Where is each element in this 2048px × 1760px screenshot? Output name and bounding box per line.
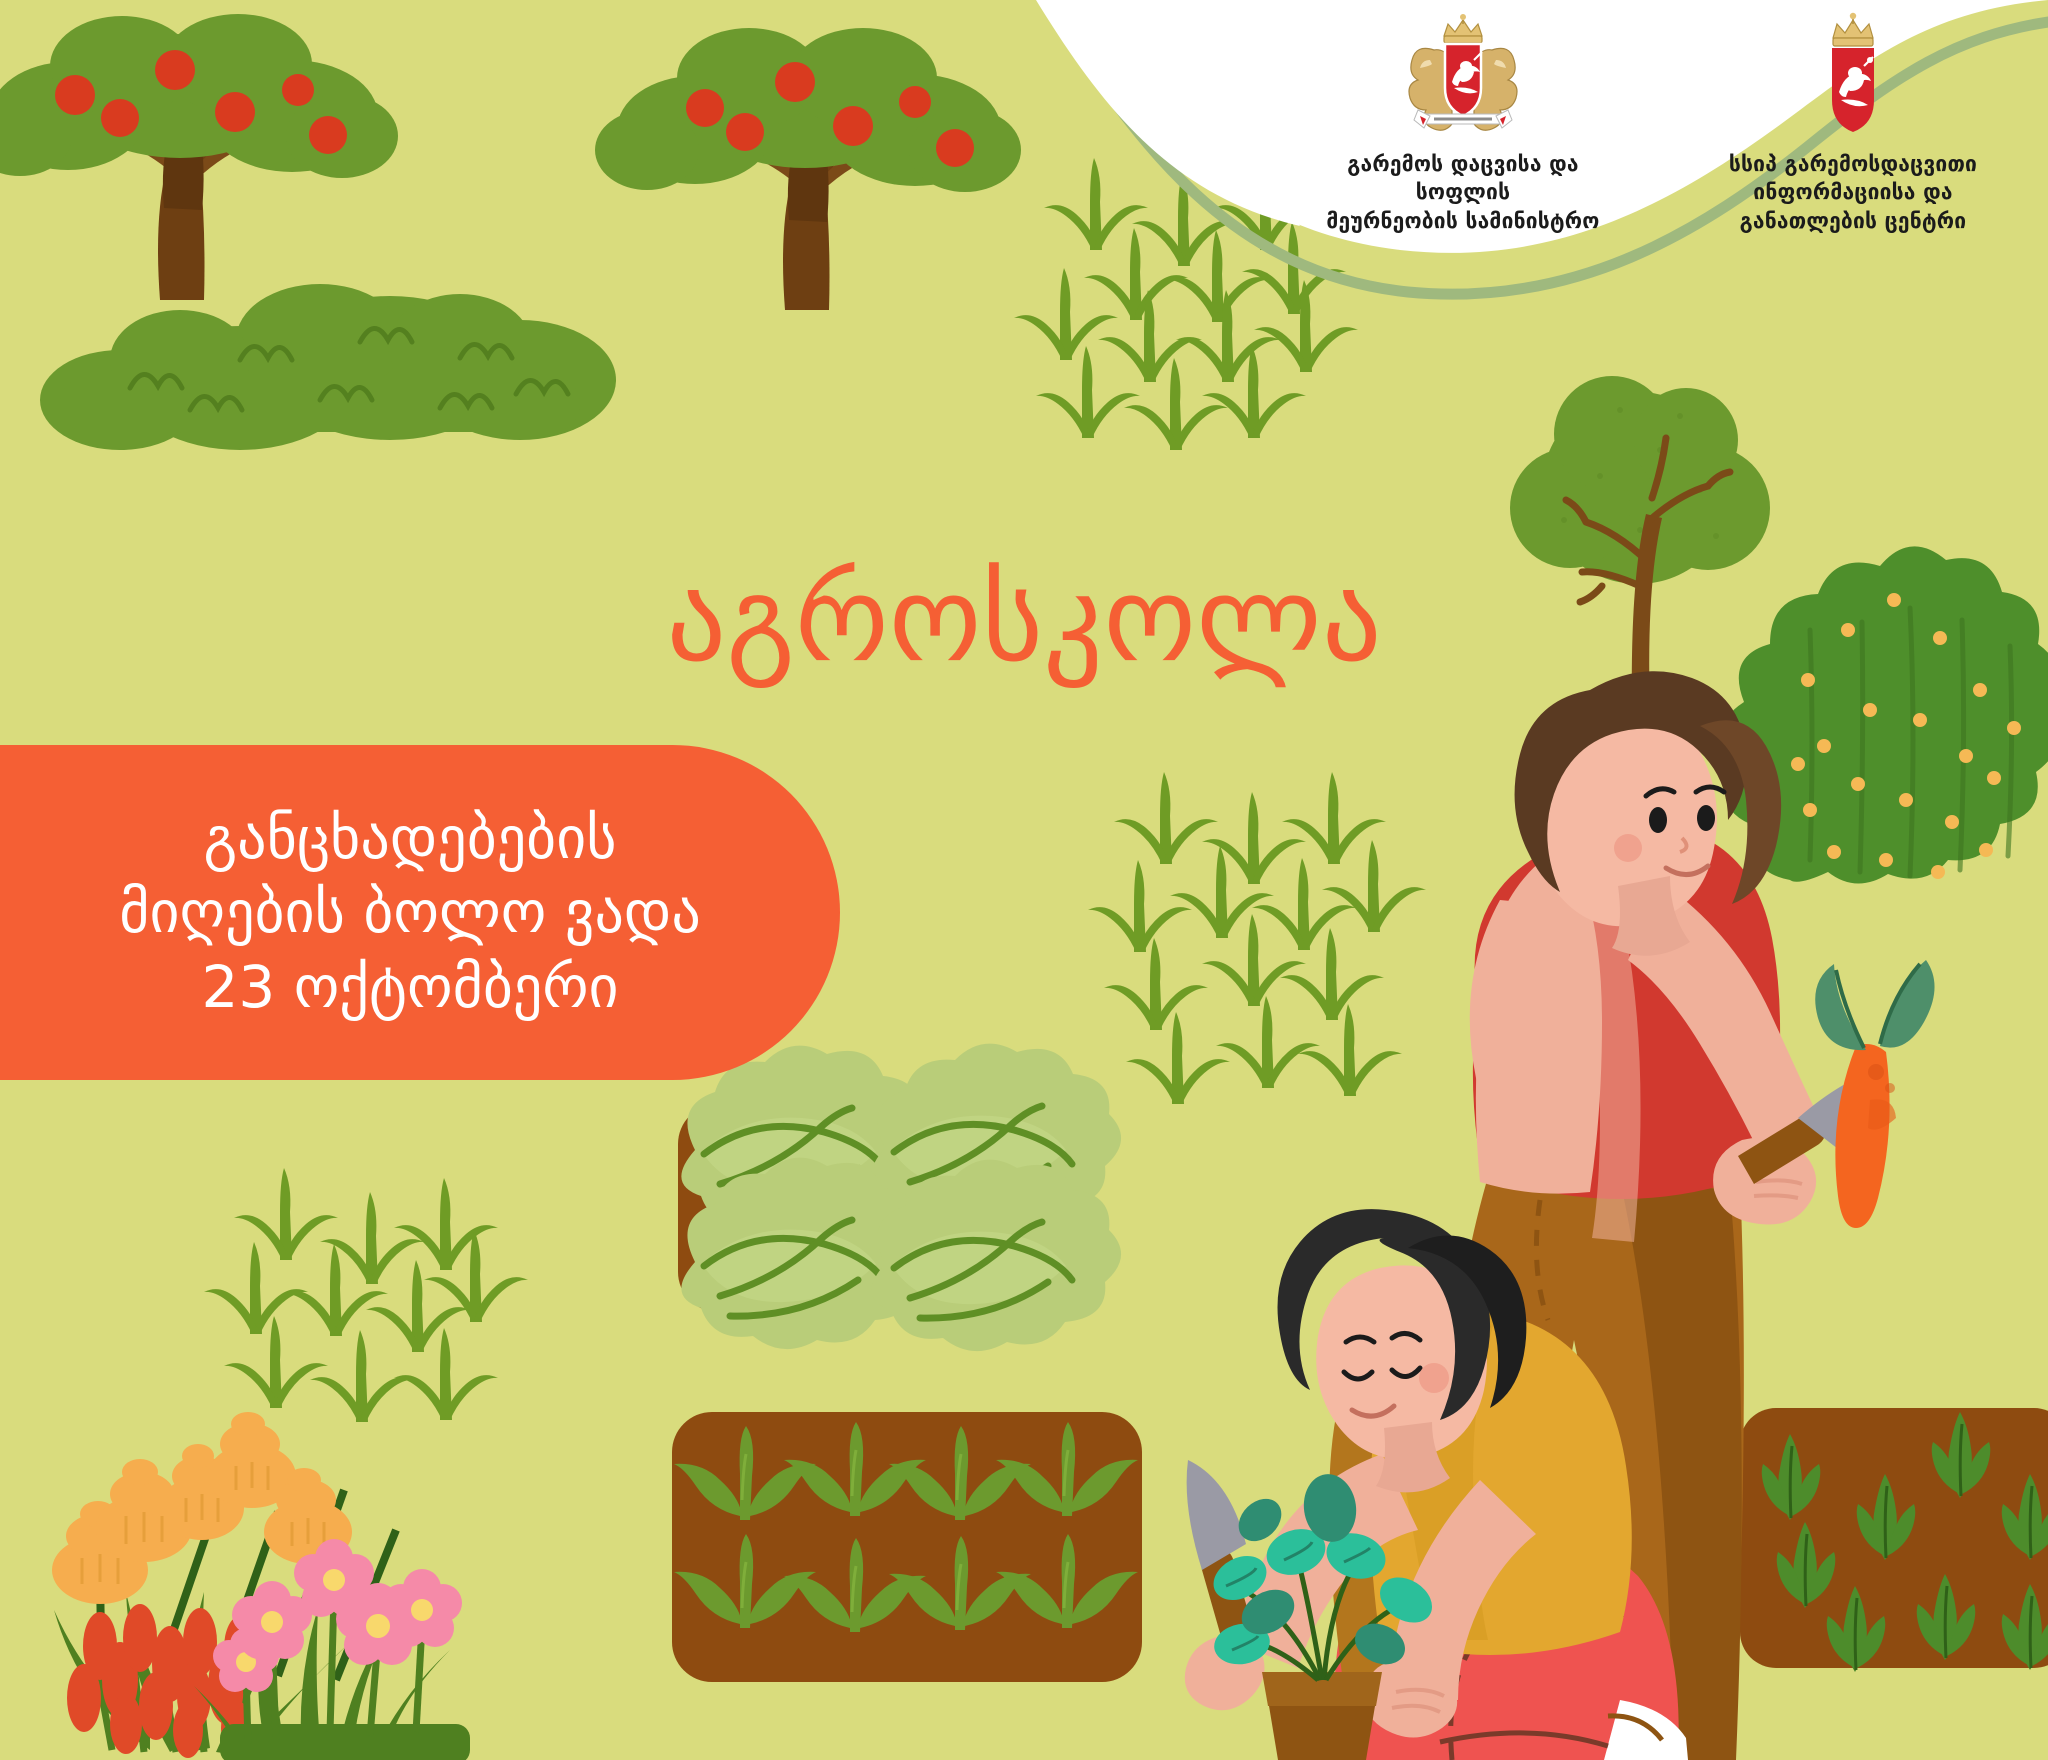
deadline-line-3: 23 ოქტომბერი	[119, 950, 701, 1024]
deadline-banner: განცხადებების მიღების ბოლო ვადა 23 ოქტომ…	[0, 745, 840, 1080]
logo-center: სსიპ გარემოსდაცვითი ინფორმაციისა და განა…	[1688, 10, 2018, 235]
deadline-line-2: მიღების ბოლო ვადა	[119, 875, 701, 949]
page-title: აგროსკოლა	[0, 560, 2048, 678]
herb-bed-right	[1740, 1408, 2048, 1672]
deadline-banner-text: განცხადებების მიღების ბოლო ვადა 23 ოქტომ…	[49, 801, 731, 1024]
logo-center-caption: სსიპ გარემოსდაცვითი ინფორმაციისა და განა…	[1729, 150, 1977, 235]
deadline-line-1: განცხადებების	[119, 801, 701, 875]
logo-center-line-3: განათლების ცენტრი	[1729, 207, 1977, 235]
cabbage-bed	[678, 1044, 1121, 1351]
logo-ministry-line-1: გარემოს დაცვისა და სოფლის	[1298, 150, 1628, 207]
georgia-coat-of-arms-icon	[1404, 10, 1522, 138]
georgia-shield-crest-icon	[1813, 10, 1893, 138]
sprout-bed	[672, 1412, 1142, 1682]
header-logos: გარემოს დაცვისა და სოფლის მეურნეობის სამ…	[1298, 10, 2018, 235]
logo-ministry-line-2: მეურნეობის სამინისტრო	[1298, 207, 1628, 235]
poster-canvas: გარემოს დაცვისა და სოფლის მეურნეობის სამ…	[0, 0, 2048, 1760]
logo-ministry: გარემოს დაცვისა და სოფლის მეურნეობის სამ…	[1298, 10, 1628, 235]
logo-center-line-2: ინფორმაციისა და	[1729, 178, 1977, 206]
logo-center-line-1: სსიპ გარემოსდაცვითი	[1729, 150, 1977, 178]
logo-ministry-caption: გარემოს დაცვისა და სოფლის მეურნეობის სამ…	[1298, 150, 1628, 235]
